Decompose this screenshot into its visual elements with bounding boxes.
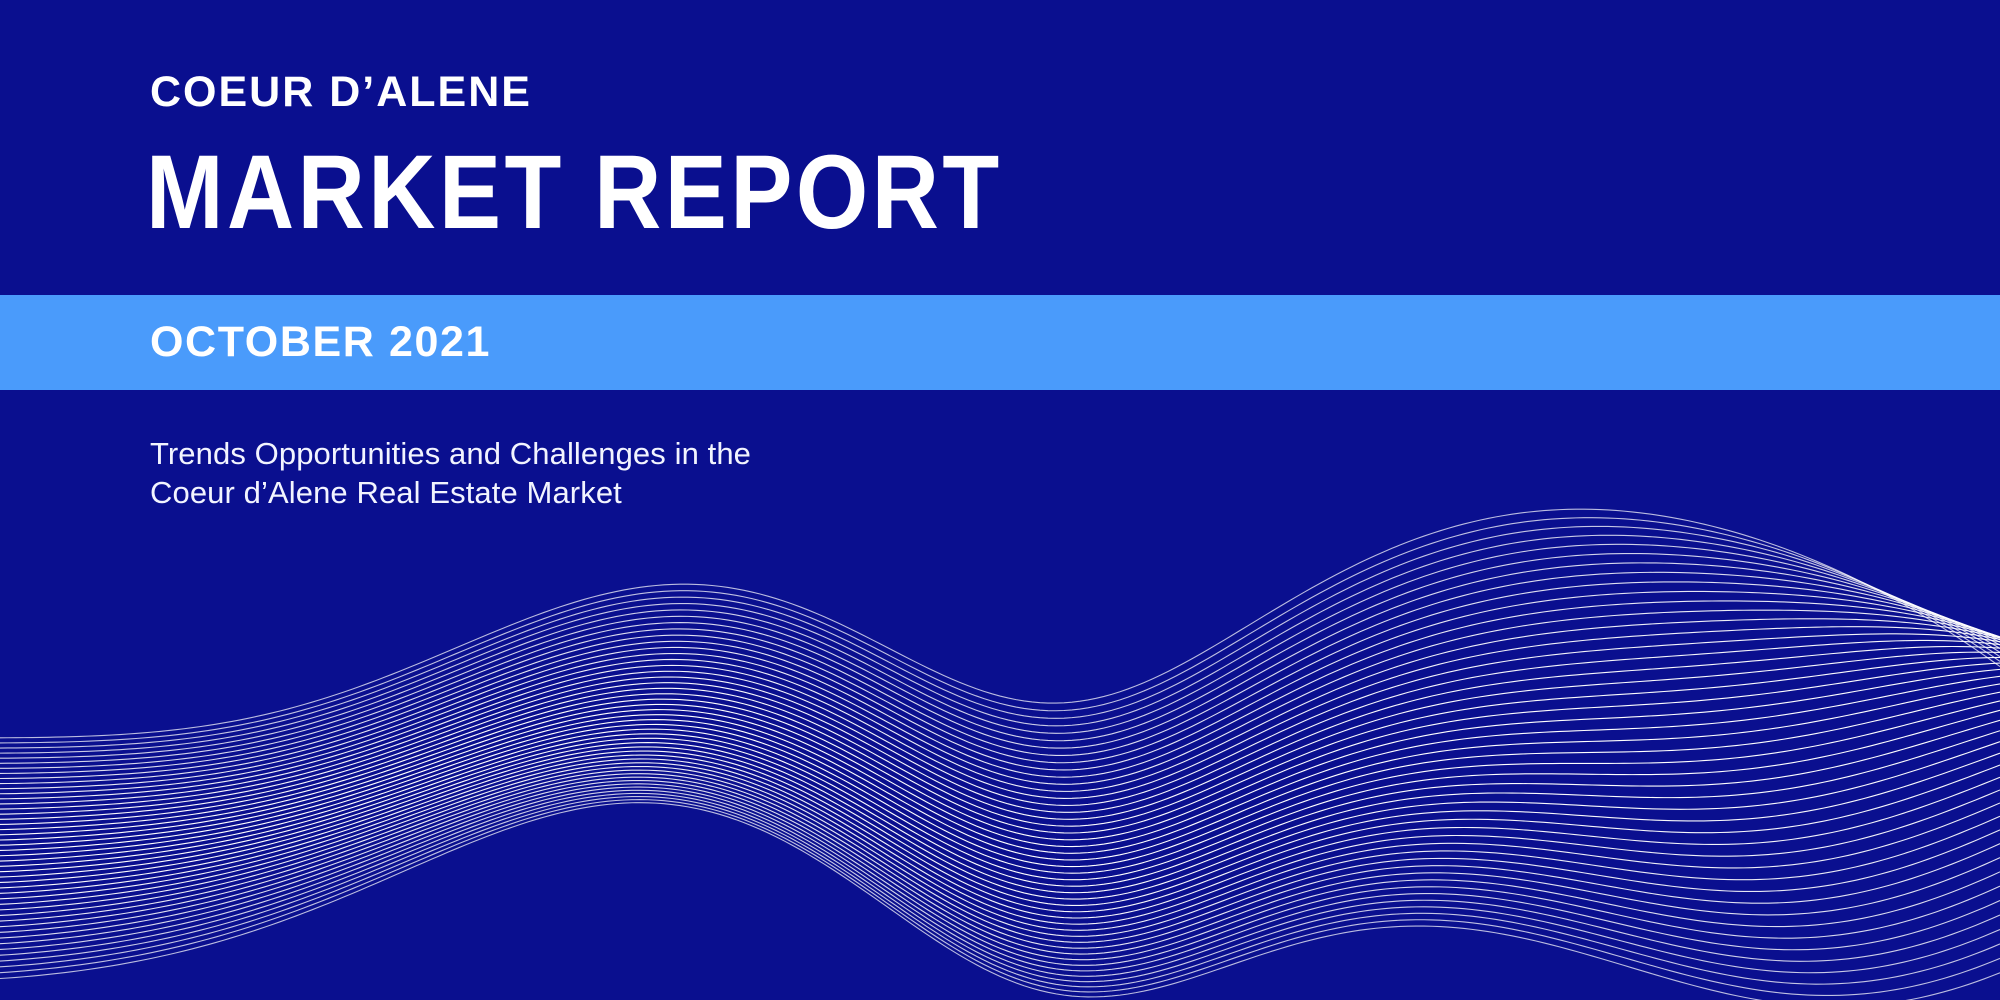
- page-title: MARKET REPORT: [146, 140, 1003, 245]
- wave-line: [0, 535, 2000, 753]
- wave-line-group: [0, 509, 2000, 1000]
- wave-line: [0, 720, 2000, 886]
- wave-line: [0, 657, 2000, 833]
- wave-line: [0, 518, 2000, 743]
- wave-line: [0, 619, 2000, 799]
- subtitle-line-2: Coeur d’Alene Real Estate Market: [150, 473, 751, 512]
- subtitle-line-1: Trends Opportunities and Challenges in t…: [150, 434, 751, 473]
- wave-line: [0, 731, 2000, 893]
- wave-line: [0, 647, 2000, 820]
- wave-line: [0, 610, 2000, 794]
- date-banner-label: OCTOBER 2021: [150, 321, 491, 364]
- wave-line: [0, 554, 2000, 764]
- wave-line: [0, 627, 2000, 804]
- eyebrow-location: COEUR D’ALENE: [150, 71, 532, 114]
- date-banner: OCTOBER 2021: [0, 295, 2000, 390]
- market-report-cover: OCTOBER 2021 COEUR D’ALENE MARKET REPORT…: [0, 0, 2000, 1000]
- wave-line: [0, 591, 2000, 783]
- subtitle: Trends Opportunities and Challenges in t…: [150, 434, 751, 512]
- wave-line: [0, 572, 2000, 773]
- wave-line: [0, 526, 2000, 748]
- wave-lines-graphic: [0, 440, 2000, 1000]
- wave-line: [0, 544, 2000, 758]
